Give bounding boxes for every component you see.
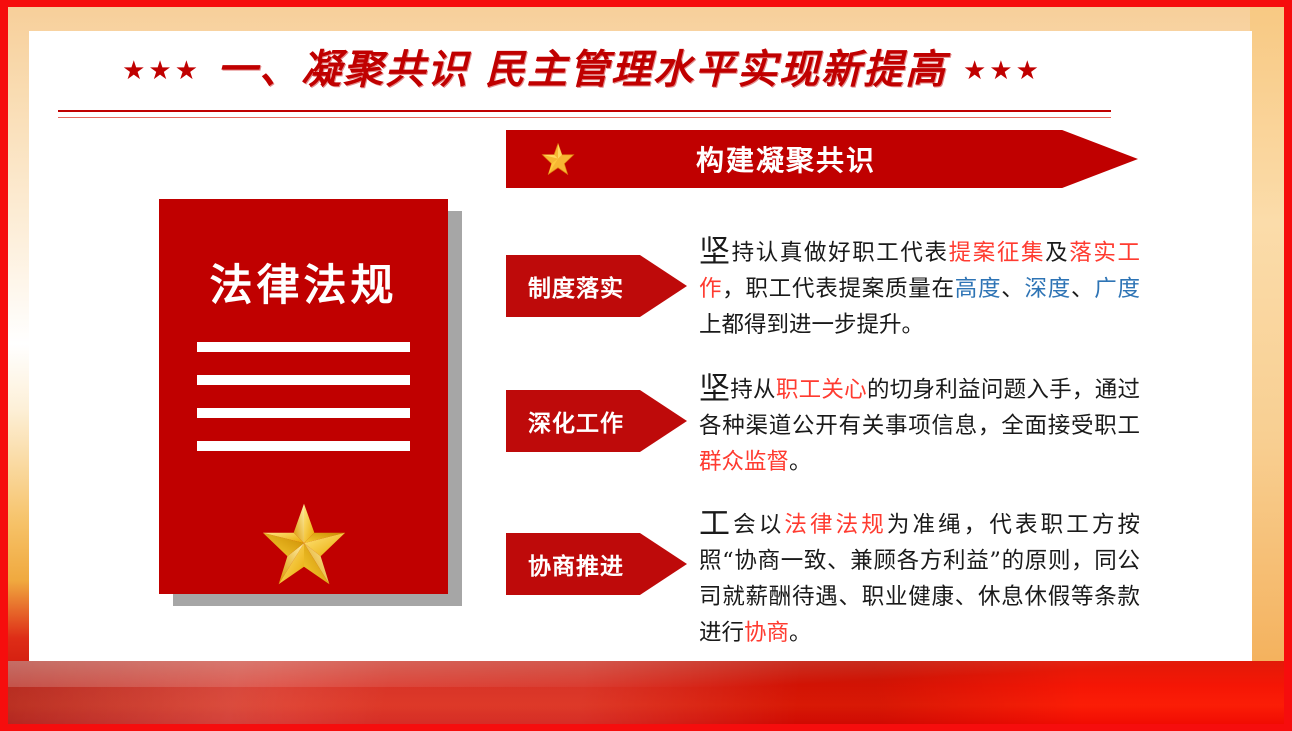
body-text-run: 、 <box>1071 276 1094 302</box>
document-card: 法律法规 <box>159 199 448 594</box>
section-tag-3[interactable]: 协商推进 <box>506 533 687 595</box>
body-text-highlight: 职工关心 <box>776 377 867 403</box>
body-text-highlight: 深度 <box>1024 276 1071 302</box>
body-text-highlight: 高度 <box>955 276 1002 302</box>
body-dropcap: 坚 <box>699 371 730 407</box>
body-text-run: 持认真做好职工代表 <box>732 240 949 266</box>
section-tag-3-label: 协商推进 <box>506 547 624 581</box>
section-body-1: 坚持认真做好职工代表提案征集及落实工作，职工代表提案质量在高度、深度、广度上都得… <box>687 235 1140 343</box>
body-text-highlight: 广度 <box>1094 276 1140 302</box>
document-line <box>197 441 410 451</box>
section-tag-1-label: 制度落实 <box>506 269 624 303</box>
section-tag-2[interactable]: 深化工作 <box>506 390 687 452</box>
document-card-lines <box>197 342 410 474</box>
title-underline-divider <box>58 110 1111 118</box>
slide: ★★★ 一、凝聚共识 民主管理水平实现新提高 ★★★ 法律法规 <box>0 0 1292 731</box>
page-title-text: 一、凝聚共识 民主管理水平实现新提高 <box>201 50 963 90</box>
slide-border-gold-right <box>1250 7 1284 724</box>
body-text-run: 会以 <box>733 512 784 538</box>
gold-star-icon <box>260 502 348 586</box>
body-text-highlight: 协商 <box>744 620 789 646</box>
body-dropcap: 坚 <box>699 234 732 270</box>
title-stars-left-icon: ★★★ <box>122 57 201 83</box>
section-tag-2-label: 深化工作 <box>506 404 624 438</box>
content-row-3: 协商推进 工会以法律法规为准绳，代表职工方按照“协商一致、兼顾各方利益”的原则，… <box>506 507 1140 651</box>
document-line <box>197 408 410 418</box>
body-text-run: ，职工代表提案质量在 <box>722 276 954 302</box>
body-text-run: 。 <box>789 449 812 475</box>
content-row-1: 制度落实 坚持认真做好职工代表提案征集及落实工作，职工代表提案质量在高度、深度、… <box>506 235 1140 343</box>
document-card-title: 法律法规 <box>159 251 448 313</box>
body-text-highlight: 法律法规 <box>784 512 887 538</box>
content-row-2: 深化工作 坚持从职工关心的切身利益问题入手，通过各种渠道公开有关事项信息，全面接… <box>506 372 1140 480</box>
section-body-3: 工会以法律法规为准绳，代表职工方按照“协商一致、兼顾各方利益”的原则，同公司就薪… <box>687 507 1140 651</box>
body-text-run: 持从 <box>730 377 776 403</box>
section-banner-title: 构建凝聚共识 <box>506 130 1066 188</box>
body-text-run: 上都得到进一步提升。 <box>699 312 924 338</box>
body-text-run: 、 <box>1001 276 1024 302</box>
title-stars-right-icon: ★★★ <box>963 57 1042 83</box>
body-dropcap: 工 <box>699 506 733 542</box>
section-tag-1[interactable]: 制度落实 <box>506 255 687 317</box>
section-body-2: 坚持从职工关心的切身利益问题入手，通过各种渠道公开有关事项信息，全面接受职工群众… <box>687 372 1140 480</box>
body-text-highlight: 提案征集 <box>949 240 1045 266</box>
section-banner: 构建凝聚共识 <box>506 130 1138 188</box>
document-line <box>197 342 410 352</box>
body-text-run: 及 <box>1045 240 1069 266</box>
page-title: ★★★ 一、凝聚共识 民主管理水平实现新提高 ★★★ <box>52 42 1112 98</box>
document-line <box>197 375 410 385</box>
bottom-red-ribbon <box>8 661 1284 724</box>
body-text-run: 。 <box>789 620 812 646</box>
body-text-highlight: 群众监督 <box>699 449 789 475</box>
